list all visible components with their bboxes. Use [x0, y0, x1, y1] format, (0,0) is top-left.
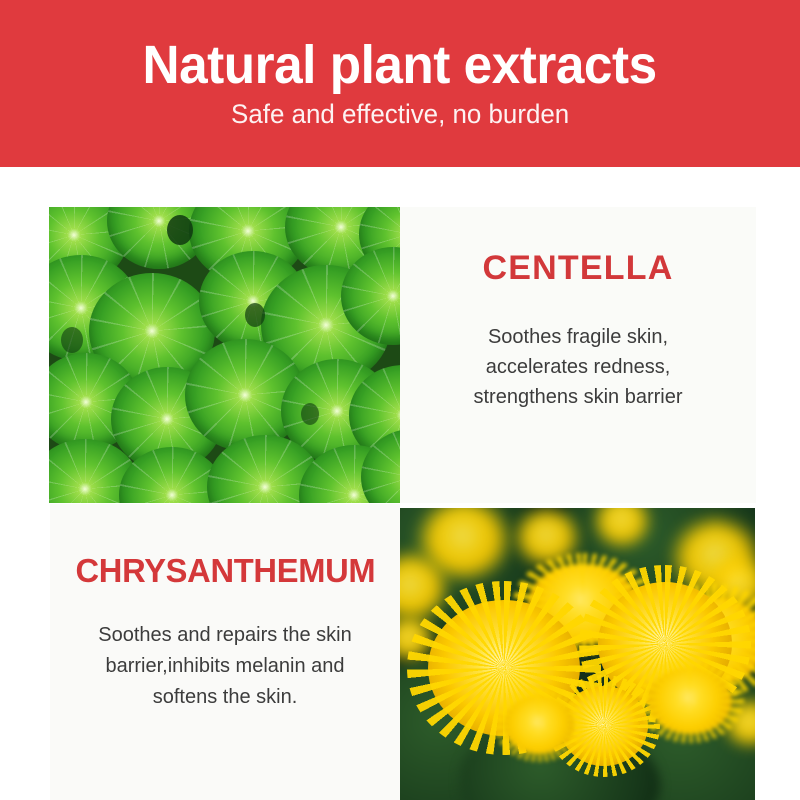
page-title: Natural plant extracts: [143, 37, 657, 94]
chrysanthemum-heading: CHRYSANTHEMUM: [75, 552, 375, 590]
header-banner: Natural plant extracts Safe and effectiv…: [0, 0, 800, 167]
centella-description: Soothes fragile skin, accelerates rednes…: [413, 322, 743, 412]
centella-description-line: Soothes fragile skin,: [413, 322, 743, 352]
centella-description-line: strengthens skin barrier: [413, 382, 743, 412]
centella-text-panel: CENTELLA Soothes fragile skin, accelerat…: [400, 207, 756, 503]
chrysanthemum-description-line: barrier,inhibits melanin and: [60, 651, 390, 682]
chrysanthemum-photo-art: [400, 508, 755, 800]
page-subtitle: Safe and effective, no burden: [231, 100, 569, 130]
chrysanthemum-image: [400, 508, 755, 800]
chrysanthemum-text-panel: CHRYSANTHEMUM Soothes and repairs the sk…: [50, 504, 400, 800]
centella-description-line: accelerates redness,: [413, 352, 743, 382]
centella-photo-art: [49, 207, 400, 503]
centella-image: [49, 207, 400, 503]
product-infographic-page: Natural plant extracts Safe and effectiv…: [0, 0, 800, 800]
centella-heading: CENTELLA: [483, 249, 674, 288]
chrysanthemum-description-line: softens the skin.: [60, 682, 390, 713]
chrysanthemum-description: Soothes and repairs the skin barrier,inh…: [60, 620, 390, 713]
chrysanthemum-description-line: Soothes and repairs the skin: [60, 620, 390, 651]
